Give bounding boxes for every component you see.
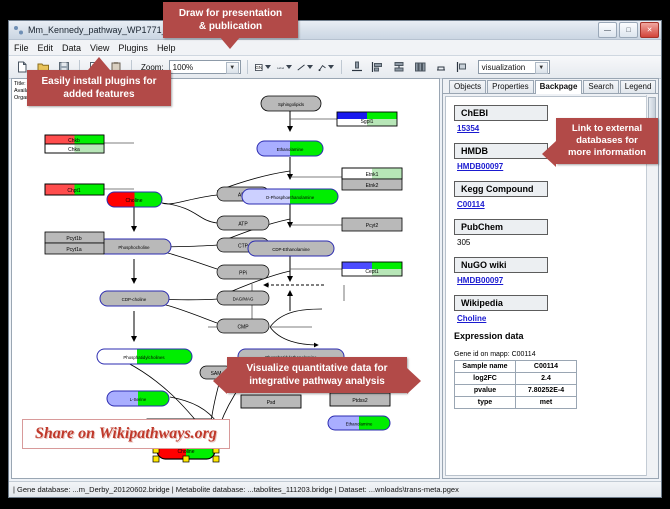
table-row: type met [455,397,577,409]
menu-bar: File Edit Data View Plugins Help [9,40,661,56]
svg-text:CDP-Ethanolamine: CDP-Ethanolamine [272,247,310,252]
pathvisio-icon [13,25,24,36]
menu-data[interactable]: Data [62,43,81,53]
metabolite-ppi: PPi [217,265,269,279]
gene-chpt1: Chpt1 [45,184,104,195]
svg-text:Choline: Choline [178,449,195,455]
datanode-icon[interactable]: GN [254,58,272,76]
svg-text:O-Phosphoethanolamine: O-Phosphoethanolamine [266,195,315,200]
callout-plugins-line1: Easily install plugins for [41,76,156,87]
expression-data-title: Expression data [454,331,655,341]
metabolite-ethanolamine-top: Ethanolamine [257,141,323,156]
gene-id-line: Gene id on mapp: C00114 [454,351,655,358]
db-header-chebi: ChEBI [454,105,548,121]
svg-text:Chpt1: Chpt1 [67,188,81,194]
tab-objects[interactable]: Objects [449,80,486,93]
gene-psd: Psd [241,395,301,408]
metabolite-phosphatidylcholines: Phosphatidylcholines [97,349,192,364]
common-height-icon[interactable] [432,58,450,76]
gene-pcyt1a: Pcyt1a [45,243,104,254]
svg-text:Pcyt1b: Pcyt1b [66,236,82,242]
cell-value-pvalue: 7.80252E-4 [516,385,577,397]
align-left-icon[interactable] [369,58,387,76]
table-row: Sample name C00114 [455,361,577,373]
svg-text:Choline: Choline [126,198,143,204]
callout-plugins-line2: added features [63,89,134,100]
svg-text:L-Serine: L-Serine [130,397,147,402]
svg-text:Etnk1: Etnk1 [366,172,379,178]
tab-backpage[interactable]: Backpage [535,80,583,94]
svg-text:Phosphatidylcholines: Phosphatidylcholines [123,355,165,360]
metabolite-ethanolamine-bottom: Ethanolamine [328,416,390,430]
svg-text:CDP-choline: CDP-choline [122,297,147,302]
callout-plugins-arrow-icon [88,57,110,70]
metabolite-phosphocholine: Phosphocholine [98,239,171,254]
db-link-nugo[interactable]: HMDB00097 [457,276,655,285]
chevron-down-icon[interactable]: ▼ [226,62,239,74]
callout-links-line2: databases for [576,135,638,146]
svg-text:Pcyt1a: Pcyt1a [66,247,82,253]
metabolite-o-phosphoethanolamine: O-Phosphoethanolamine [242,189,338,204]
common-width-icon[interactable] [411,58,429,76]
cell-label-pvalue: pvalue [455,385,516,397]
align-bottom-icon[interactable] [348,58,366,76]
svg-text:Phosphocholine: Phosphocholine [118,245,150,250]
menu-help[interactable]: Help [157,43,176,53]
svg-text:GN: GN [255,65,262,70]
callout-visualize-data: Visualize quantitative data for integrat… [227,357,407,393]
metabolite-dag-mag: DAG/MAG [217,291,269,305]
window-buttons: — □ ✕ [598,22,659,38]
table-row: log2FC 2.4 [455,373,577,385]
svg-text:Chkb: Chkb [68,138,80,144]
svg-text:CMP: CMP [237,325,249,331]
gene-cept1: Cept1 [342,262,402,276]
metabolite-cmp: CMP [217,319,269,333]
line-icon[interactable] [296,58,314,76]
svg-text:ATP: ATP [238,222,248,228]
share-text: Share on Wikipathways.org [35,425,217,442]
metabolite-cdp-choline: CDP-choline [100,291,169,306]
tab-search[interactable]: Search [583,80,618,93]
menu-view[interactable]: View [90,43,109,53]
db-link-kegg[interactable]: C00114 [457,200,655,209]
gene-ptdss2: Ptdss2 [330,393,390,406]
menu-file[interactable]: File [14,43,29,53]
zoom-value: 100% [173,63,193,72]
gene-etnk1: Etnk1 [342,168,402,179]
side-panel-tabs: Objects Properties Backpage Search Legen… [443,79,658,94]
svg-text:Etnk2: Etnk2 [366,183,379,189]
visualization-combo[interactable]: visualization ▼ [478,60,550,74]
db-header-nugo: NuGO wiki [454,257,548,273]
db-header-hmdb: HMDB [454,143,548,159]
zoom-combo[interactable]: 100% ▼ [169,60,241,74]
callout-links-arrow-icon [542,141,556,167]
screenshot-root: Mm_Kennedy_pathway_WP1771_45176.gpml — □… [0,0,670,509]
callout-links-line3: more information [568,147,646,158]
callout-external-links: Link to external databases for more info… [556,118,658,164]
callout-draw-presentation: Draw for presentation & publication [163,2,298,38]
chevron-down-icon-2[interactable]: ▼ [535,62,548,74]
cell-label-sample: Sample name [455,361,516,373]
db-link-wikipedia[interactable]: Choline [457,314,655,323]
svg-text:Pcyt2: Pcyt2 [366,223,379,229]
cell-label-log2fc: log2FC [455,373,516,385]
metabolite-cdp-ethanolamine: CDP-Ethanolamine [248,241,334,256]
svg-text:Ethanolamine: Ethanolamine [346,422,373,427]
callout-draw-arrow-icon [219,36,241,49]
maximize-button[interactable]: □ [619,22,638,38]
cell-value-log2fc: 2.4 [516,373,577,385]
svg-text:DAG/MAG: DAG/MAG [233,297,254,302]
svg-text:Ethanolamine: Ethanolamine [277,147,304,152]
callout-draw-line2: & publication [199,21,262,32]
svg-text:Label: Label [277,65,285,69]
callout-visualize-line1: Visualize quantitative data for [247,363,388,374]
gene-chka: Chka [45,144,104,153]
stack-vertical-icon[interactable] [390,58,408,76]
metabolite-l-serine-left: L-Serine [107,391,169,406]
menu-plugins[interactable]: Plugins [118,43,148,53]
callout-visualize-arrow-left-icon [213,368,227,394]
gene-sgpl1: Sgpl1 [337,112,397,126]
svg-text:Sgpl1: Sgpl1 [361,119,374,125]
svg-text:CTP: CTP [238,244,249,250]
metabolite-choline-top: Choline [107,192,162,207]
cell-value-sample: C00114 [516,361,577,373]
db-header-pubchem: PubChem [454,219,548,235]
svg-text:Ptdss2: Ptdss2 [352,398,368,404]
toolbar-divider-3 [247,60,248,74]
gene-chkb: Chkb [45,135,104,144]
db-header-kegg: Kegg Compound [454,181,548,197]
callout-install-plugins: Easily install plugins for added feature… [27,70,171,106]
expression-table: Sample name C00114 log2FC 2.4 pvalue 7.8… [454,360,577,409]
table-row: pvalue 7.80252E-4 [455,385,577,397]
svg-text:Psd: Psd [267,400,276,406]
status-bar: | Gene database: ...m_Derby_20120602.bri… [9,481,661,497]
callout-draw-line1: Draw for presentation [179,8,282,19]
callout-links-line1: Link to external [572,123,642,134]
callout-visualize-line2: integrative pathway analysis [249,376,385,387]
close-button[interactable]: ✕ [640,22,659,38]
gene-etnk2: Etnk2 [342,179,402,190]
cell-label-type: type [455,397,516,409]
label-icon[interactable]: Label [275,58,293,76]
tab-properties[interactable]: Properties [487,80,533,93]
metabolite-sphingolipids: Sphingolipids [261,96,321,111]
visualization-value: visualization [482,63,526,72]
db-value-pubchem: 305 [457,238,655,247]
svg-text:Chka: Chka [68,147,80,153]
callout-share-wikipathways: Share on Wikipathways.org [22,419,230,449]
menu-edit[interactable]: Edit [38,43,54,53]
status-text: | Gene database: ...m_Derby_20120602.bri… [13,485,459,494]
minimize-button[interactable]: — [598,22,617,38]
tab-legend[interactable]: Legend [620,80,657,93]
toolbar-divider-4 [341,60,342,74]
cell-value-type: met [516,397,577,409]
metabolite-atp: ATP [217,216,269,230]
gene-pcyt2: Pcyt2 [342,218,402,231]
callout-visualize-arrow-right-icon [407,368,421,394]
svg-text:Sphingolipids: Sphingolipids [278,102,305,107]
anchor-icon[interactable] [317,58,335,76]
svg-text:Cept1: Cept1 [365,269,379,275]
svg-text:PPi: PPi [239,271,247,277]
distribute-icon[interactable] [453,58,471,76]
gene-pcyt1b: Pcyt1b [45,232,104,243]
title-bar: Mm_Kennedy_pathway_WP1771_45176.gpml — □… [9,21,661,40]
db-header-wikipedia: Wikipedia [454,295,548,311]
